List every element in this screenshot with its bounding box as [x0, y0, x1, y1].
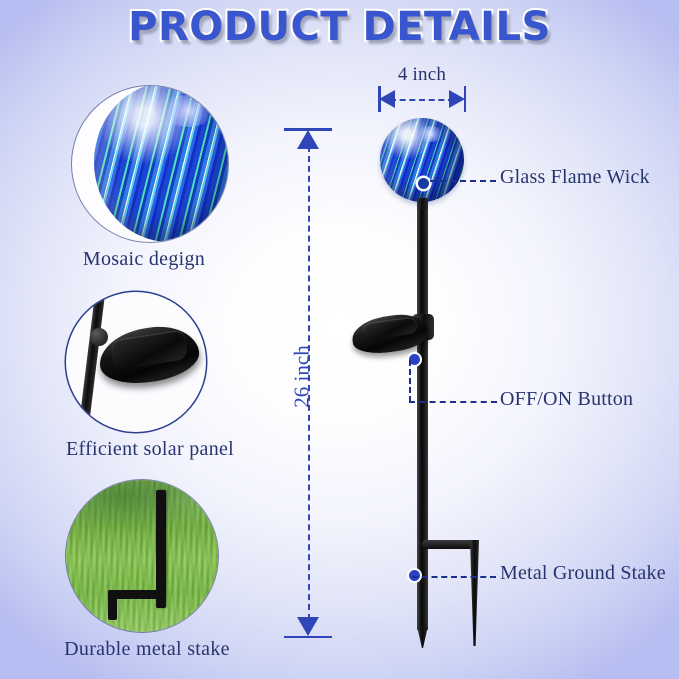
- arrow-left-icon: [379, 90, 395, 108]
- blue-swirled-glass-ball-photo: [94, 86, 228, 242]
- page-title: PRODUCT DETAILS: [128, 4, 551, 50]
- ground-stake-cross-bar: [422, 540, 477, 549]
- width-dimension-line: [378, 88, 466, 112]
- feature-caption-mosaic-design: Mosaic degign: [0, 248, 300, 271]
- product-details-infographic: PRODUCT DETAILS Mosaic degign Efficient …: [0, 0, 679, 679]
- arrow-down-icon: [297, 617, 319, 636]
- ground-stake-main-prong-tip: [417, 626, 428, 648]
- feature-mosaic-design: Mosaic degign: [0, 86, 300, 271]
- annotation-glass-flame-wick: Glass Flame Wick: [500, 166, 650, 189]
- glass-flame-wick-marker-dot: [418, 178, 429, 189]
- metal-ground-stake-leader-line: [412, 576, 496, 578]
- feature-caption-metal-stake: Durable metal stake: [0, 638, 300, 661]
- page-title-container: PRODUCT DETAILS: [0, 4, 679, 50]
- product-illustration: [346, 118, 516, 646]
- arrow-up-icon: [297, 130, 319, 149]
- ground-stake-second-prong: [470, 540, 479, 646]
- annotation-off-on-button: OFF/ON Button: [500, 388, 633, 411]
- feature-caption-solar-panel: Efficient solar panel: [0, 438, 300, 461]
- arrow-right-icon: [449, 90, 465, 108]
- feature-metal-stake: Durable metal stake: [0, 480, 300, 661]
- solar-panel-cell-surface: [362, 316, 418, 340]
- off-on-button-leader-horizontal: [409, 401, 497, 403]
- product-pole: [417, 210, 428, 630]
- annotation-metal-ground-stake: Metal Ground Stake: [500, 562, 666, 585]
- solar-panel-hinge: [90, 328, 108, 346]
- solar-panel-circle-photo: [66, 292, 206, 432]
- height-dimension-label: 26 inch: [290, 317, 315, 437]
- height-dimension-line: 26 inch: [288, 128, 334, 638]
- grass-background-photo: [66, 480, 218, 632]
- glass-flame-wick-leader-line: [430, 180, 496, 182]
- solar-panel-face: [110, 329, 188, 370]
- glass-ball: [380, 118, 464, 202]
- width-dimension-label: 4 inch: [370, 64, 474, 86]
- stake-down-rod: [108, 590, 117, 620]
- feature-solar-panel: Efficient solar panel: [0, 292, 300, 461]
- off-on-button-leader-vertical: [409, 360, 411, 402]
- metal-stake-circle-photo: [66, 480, 218, 632]
- width-dimension-dashed-line: [390, 99, 454, 101]
- mosaic-design-circle-photo: [72, 86, 228, 242]
- solar-panel-body: [95, 321, 202, 390]
